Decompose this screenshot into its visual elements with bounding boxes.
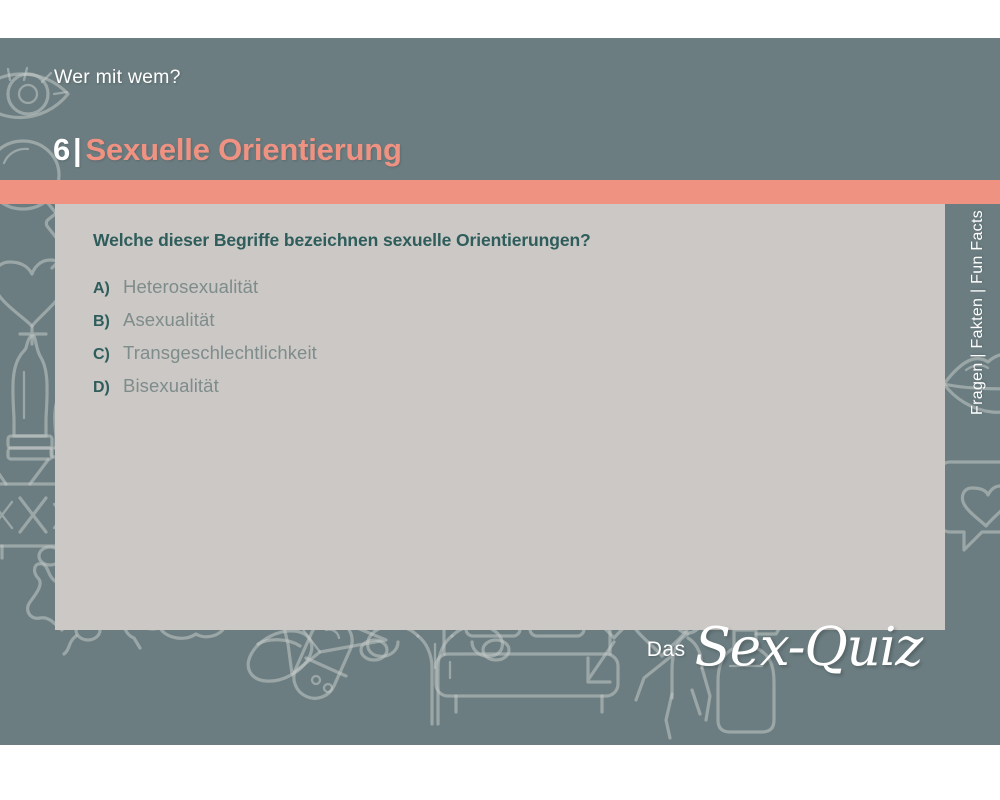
topic-headline: Sexuelle Orientierung <box>86 132 402 167</box>
answer-option-c[interactable]: C) Transgeschlechtlichkeit <box>93 342 915 364</box>
answer-text-d: Bisexualität <box>123 375 219 397</box>
question-text: Welche dieser Begriffe bezeichnen sexuel… <box>93 230 915 251</box>
brand-logo: Das Sex-Quiz <box>647 623 922 673</box>
answer-label-a: A) <box>93 280 123 298</box>
slide-header: Wer mit wem? 6|Sexuelle Orientierung <box>0 38 1000 180</box>
answer-label-b: B) <box>93 313 123 331</box>
answer-text-a: Heterosexualität <box>123 276 258 298</box>
answer-option-a[interactable]: A) Heterosexualität <box>93 276 915 298</box>
title-separator: | <box>70 132 85 167</box>
answer-label-d: D) <box>93 379 123 397</box>
brand-logo-name: Sex-Quiz <box>695 623 922 673</box>
page-title: 6|Sexuelle Orientierung <box>53 132 402 168</box>
answer-text-b: Asexualität <box>123 309 215 331</box>
question-card: Welche dieser Begriffe bezeichnen sexuel… <box>55 204 945 630</box>
answer-text-c: Transgeschlechtlichkeit <box>123 342 317 364</box>
accent-divider-bar <box>0 180 1000 204</box>
answer-label-c: C) <box>93 346 123 364</box>
answer-option-b[interactable]: B) Asexualität <box>93 309 915 331</box>
slide-kicker: Wer mit wem? <box>54 66 181 89</box>
answer-list: A) Heterosexualität B) Asexualität C) Tr… <box>93 276 915 408</box>
question-number: 6 <box>53 132 70 167</box>
side-label: Fragen | Fakten | Fun Facts <box>969 210 987 415</box>
brand-logo-prefix: Das <box>647 638 695 673</box>
speech-bubble-heart-icon <box>938 448 1000 558</box>
quiz-slide: Wer mit wem? 6|Sexuelle Orientierung Fra… <box>0 38 1000 745</box>
answer-option-d[interactable]: D) Bisexualität <box>93 375 915 397</box>
